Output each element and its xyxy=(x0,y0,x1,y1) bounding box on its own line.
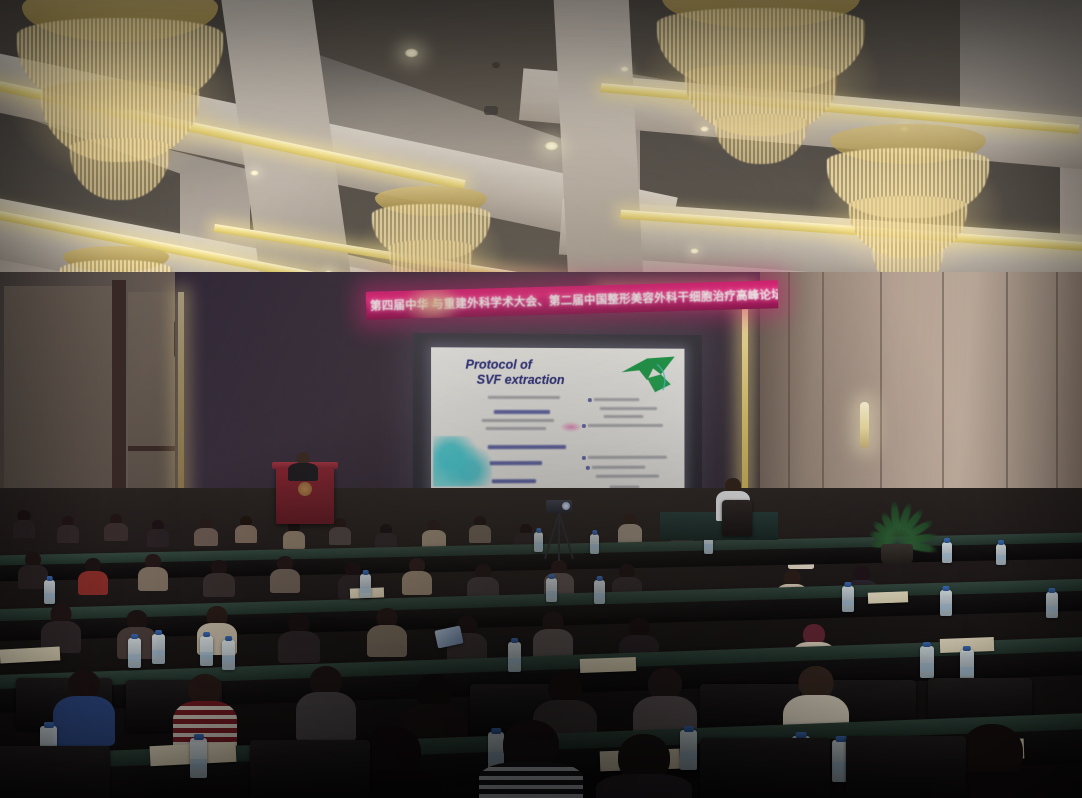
audience-member xyxy=(106,514,126,540)
presentation-slide: Protocol of SVF extraction xyxy=(431,347,684,494)
slide-body-line xyxy=(592,466,645,469)
water-bottle xyxy=(190,738,207,778)
water-bottle xyxy=(44,580,55,604)
green-arrow-icon xyxy=(618,354,679,396)
slide-body-line xyxy=(488,445,566,449)
slide-body-line xyxy=(594,398,639,401)
water-bottle xyxy=(200,636,213,666)
camera-lens-icon xyxy=(562,502,570,510)
water-bottle xyxy=(128,638,141,668)
chandelier xyxy=(10,0,230,214)
audience-member xyxy=(536,612,570,658)
audience-member xyxy=(470,564,496,598)
audience-member xyxy=(178,674,232,748)
audience-member xyxy=(424,520,444,546)
audience-member xyxy=(488,720,574,798)
audience-member xyxy=(300,666,352,738)
water-bottle xyxy=(842,586,854,612)
slide-body-line xyxy=(596,475,659,478)
audience-member xyxy=(80,558,106,592)
chair xyxy=(846,736,966,798)
audience-member xyxy=(206,560,232,594)
presenter xyxy=(288,452,318,480)
audience-member xyxy=(282,614,316,660)
audience-member xyxy=(236,516,256,542)
slide-title: Protocol of SVF extraction xyxy=(466,358,616,389)
audience-member xyxy=(58,670,110,742)
podium-emblem xyxy=(298,482,312,496)
slide-title-line2: SVF extraction xyxy=(466,373,616,389)
audience-member xyxy=(404,558,430,592)
audience-member xyxy=(44,604,78,650)
water-bottle xyxy=(920,646,934,678)
downlight xyxy=(404,48,419,58)
audience-member xyxy=(620,514,640,542)
slide-body-line xyxy=(588,424,663,427)
slide-body-line xyxy=(494,410,550,414)
water-bottle xyxy=(942,542,952,563)
slide-body-line xyxy=(492,479,536,483)
water-bottle xyxy=(508,642,521,672)
stage-chair xyxy=(722,500,752,536)
chair xyxy=(700,738,830,798)
chair xyxy=(0,746,110,798)
audience-member xyxy=(148,520,168,546)
water-bottle xyxy=(152,634,165,664)
downlight xyxy=(690,248,699,254)
water-bottle xyxy=(594,580,605,604)
water-bottle xyxy=(940,590,952,616)
plant-pot xyxy=(881,544,913,564)
audience-member xyxy=(284,522,304,548)
water-bottle xyxy=(590,534,599,554)
video-camera-tripod xyxy=(540,500,580,562)
slide-body-line xyxy=(600,407,657,410)
audience-member xyxy=(470,516,490,542)
downlight xyxy=(250,170,259,176)
chair xyxy=(250,740,370,798)
slide-bullet xyxy=(582,424,585,427)
water-bottle xyxy=(996,544,1006,565)
ceiling-vent xyxy=(492,62,500,68)
ceiling-vent xyxy=(484,106,498,115)
audience-member xyxy=(58,516,78,542)
water-bottle xyxy=(1046,592,1058,618)
audience-member xyxy=(14,510,34,536)
slide-body-line xyxy=(490,461,542,465)
potted-palm-plant xyxy=(858,478,936,564)
pink-highlight xyxy=(560,422,582,432)
cyan-cell-graphic xyxy=(433,436,492,487)
slide-body-line xyxy=(604,415,644,418)
conference-hall-photo: 第四届中华 与重建外科学术大会、第二届中国整形美容外科干细胞治疗高峰论坛 Pro… xyxy=(0,0,1082,798)
water-bottle xyxy=(546,578,557,602)
downlight xyxy=(544,141,559,151)
slide-bullet xyxy=(586,466,589,470)
audience-member xyxy=(272,556,298,590)
water-bottle xyxy=(360,574,371,598)
handout-paper xyxy=(868,591,908,603)
slide-bullet xyxy=(582,456,585,460)
audience-member xyxy=(370,608,404,654)
handout-paper xyxy=(580,657,636,673)
downlight xyxy=(620,66,629,72)
audience-member xyxy=(140,554,166,588)
chandelier xyxy=(818,124,998,292)
audience-member xyxy=(604,734,684,798)
slide-body-line xyxy=(588,456,667,459)
water-bottle xyxy=(222,640,235,670)
slide-bullet xyxy=(588,398,591,401)
wall-sconce xyxy=(860,402,869,448)
slide-title-line1: Protocol of xyxy=(466,358,532,372)
slide-body-line xyxy=(486,427,546,430)
slide-body-line xyxy=(488,396,560,399)
audience-member xyxy=(196,518,216,544)
audience-member xyxy=(20,552,46,586)
projection-screen: Protocol of SVF extraction xyxy=(413,333,702,511)
slide-body-line xyxy=(482,419,554,422)
